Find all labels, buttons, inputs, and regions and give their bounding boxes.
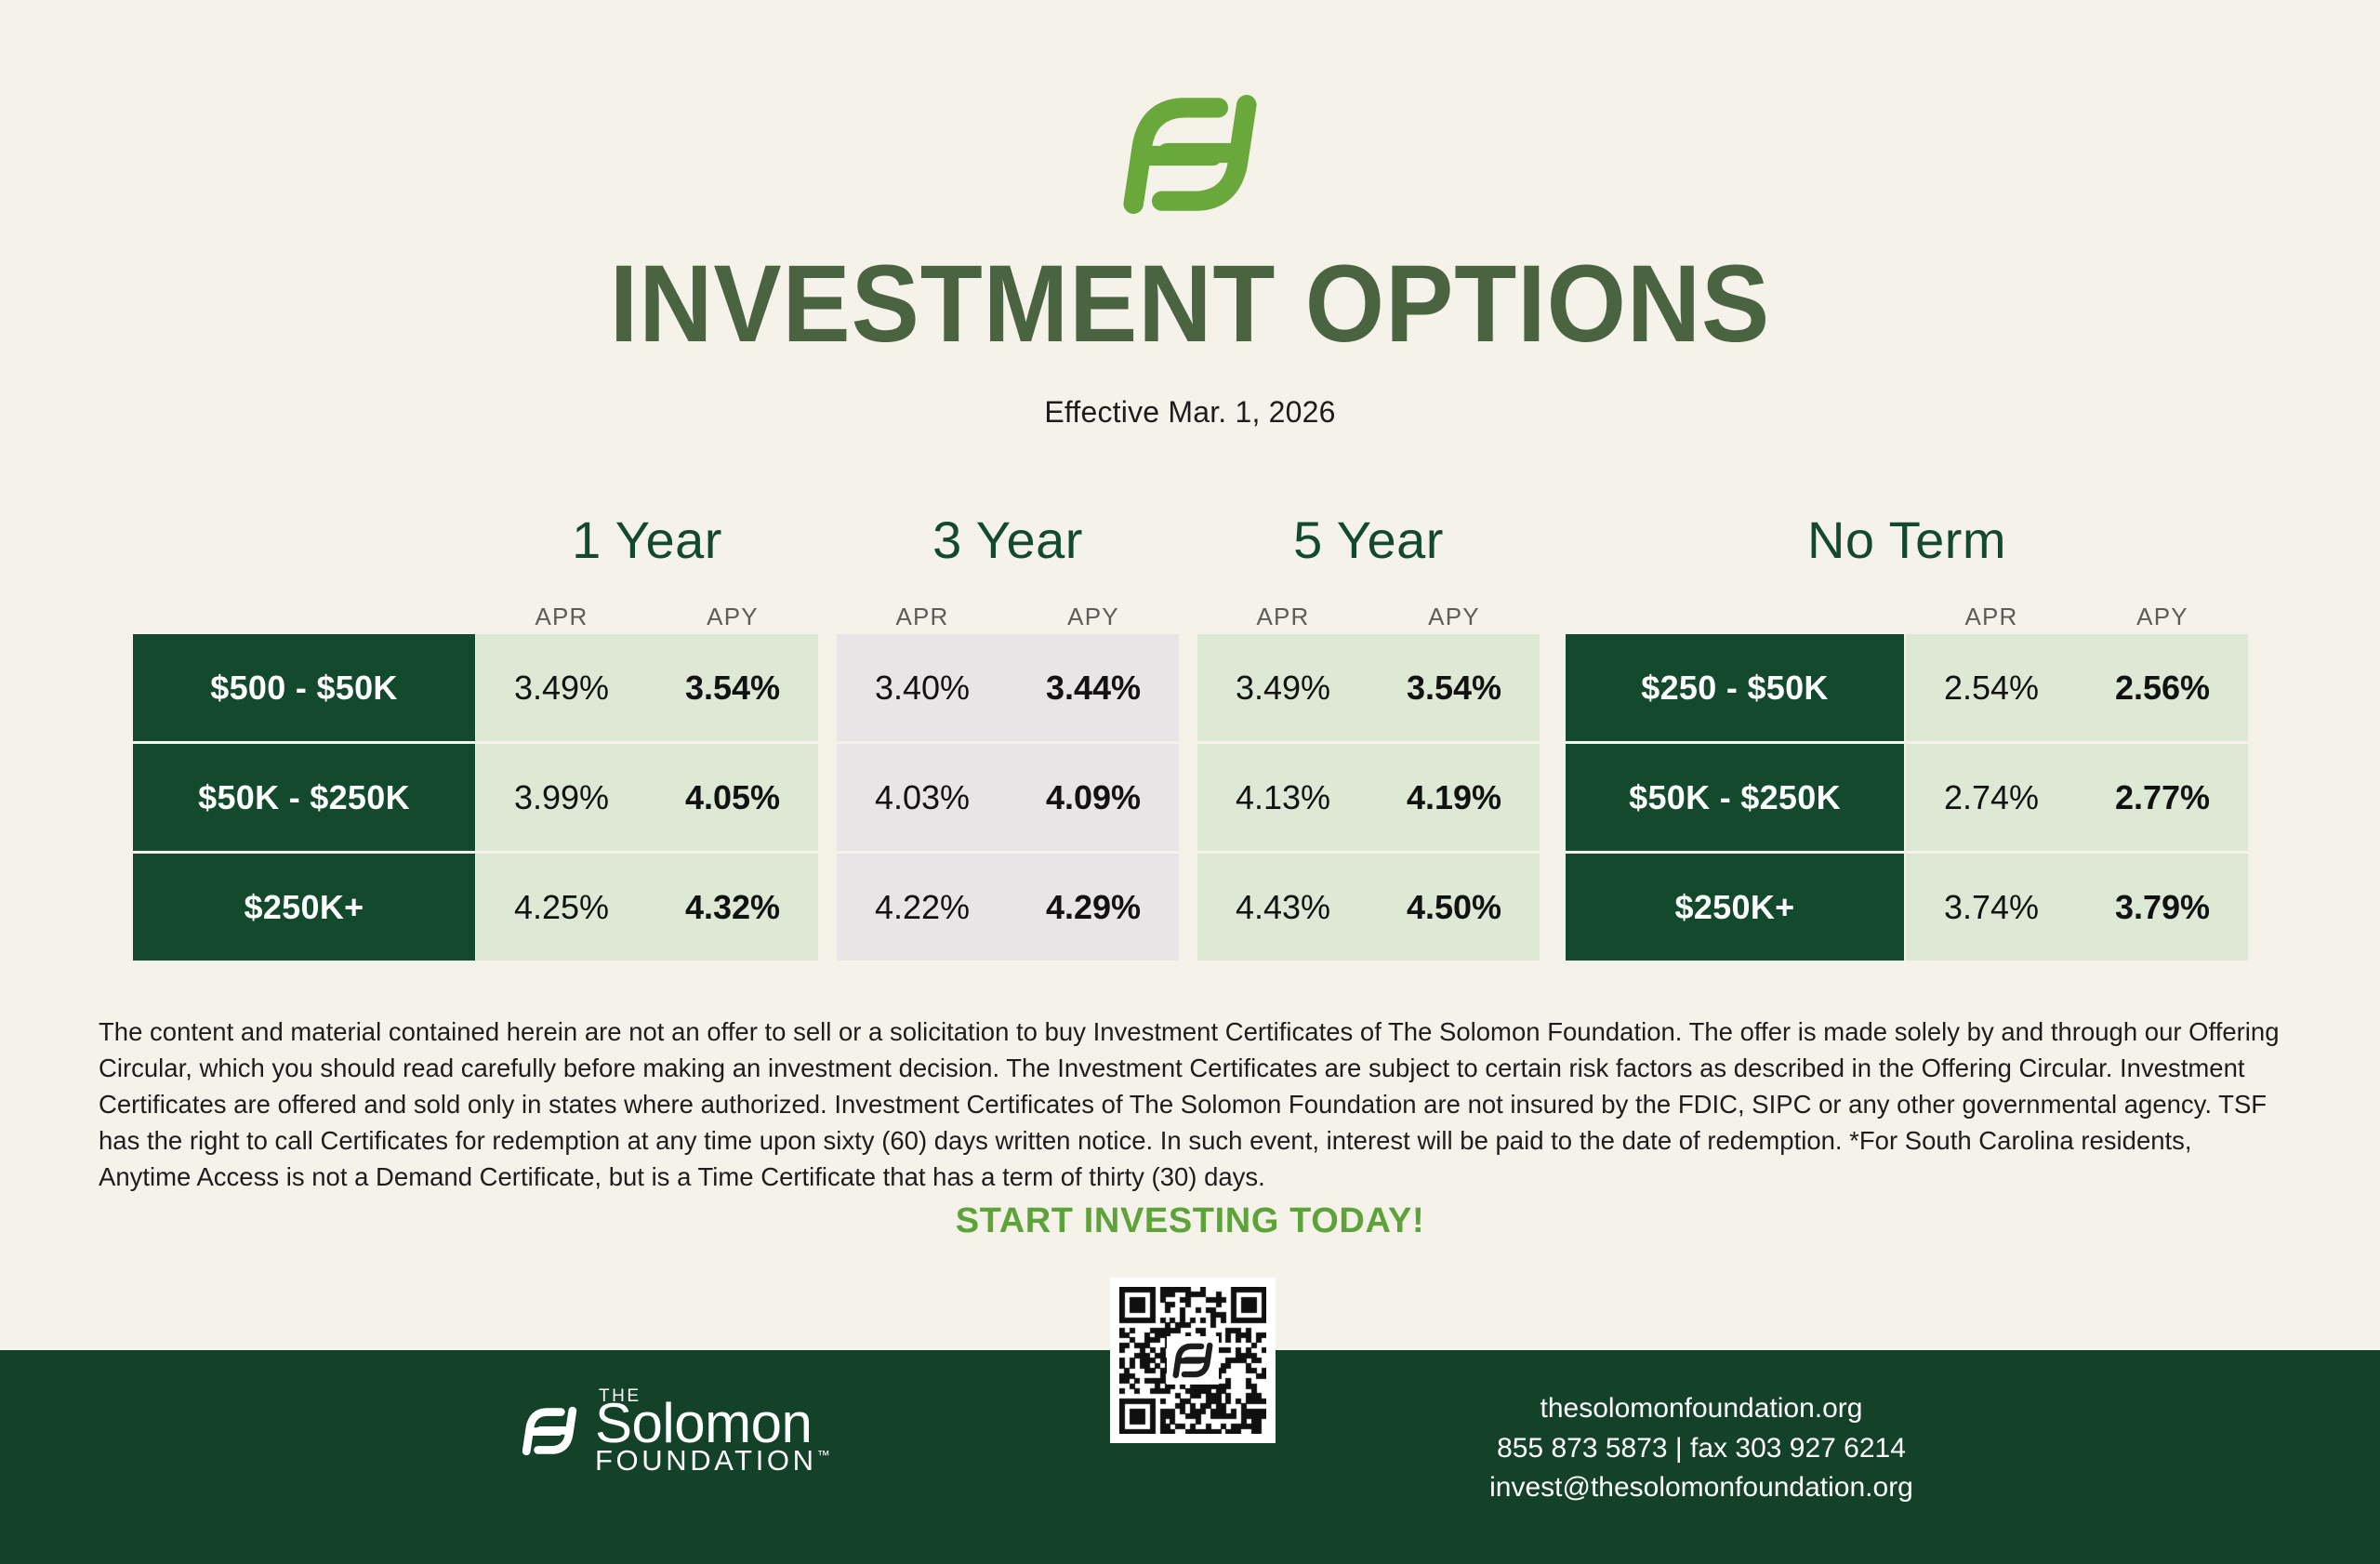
footer-logo-tm: ™ (817, 1448, 830, 1463)
colhead-apr-5-year: APR (1197, 603, 1368, 631)
cell-apy: 4.50% (1368, 854, 1540, 961)
cell-apy: 2.77% (2077, 744, 2248, 851)
cell-apr: 3.49% (476, 634, 647, 741)
group-title-5-year: 5 Year (1197, 510, 1540, 570)
cell-apy: 4.09% (1008, 744, 1179, 851)
cell-apr: 4.43% (1197, 854, 1368, 961)
cell-apr: 2.74% (1906, 744, 2077, 851)
footer-phone[interactable]: 855 873 5873 | fax 303 927 6214 (1450, 1429, 1952, 1469)
cell-apy: 4.05% (647, 744, 818, 851)
cell-apr: 4.13% (1197, 744, 1368, 851)
row-label: $500 - $50K (133, 634, 475, 741)
row-label: $250K+ (133, 854, 475, 961)
footer-website[interactable]: thesolomonfoundation.org (1450, 1389, 1952, 1429)
cell-apy: 3.54% (647, 634, 818, 741)
footer-logo-solomon: Solomon (595, 1396, 830, 1451)
colhead-apy-1-year: APY (647, 603, 818, 631)
footer-contact: thesolomonfoundation.org 855 873 5873 | … (1450, 1389, 1952, 1508)
row-label: $50K - $250K (1566, 744, 1904, 851)
cell-apy: 3.54% (1368, 634, 1540, 741)
colhead-apr-1-year: APR (476, 603, 647, 631)
cell-apr: 4.25% (476, 854, 647, 961)
qr-center-fs-monogram-icon (1167, 1336, 1219, 1385)
poster-page: INVESTMENT OPTIONS Effective Mar. 1, 202… (0, 0, 2380, 1564)
group-title-no-term: No Term (1566, 510, 2248, 570)
cell-apr: 3.49% (1197, 634, 1368, 741)
colhead-apr-3-year: APR (837, 603, 1008, 631)
footer-logo: THE Solomon FOUNDATION™ (521, 1387, 830, 1475)
cell-apy: 2.56% (2077, 634, 2248, 741)
footer-email[interactable]: invest@thesolomonfoundation.org (1450, 1468, 1952, 1508)
group-title-3-year: 3 Year (837, 510, 1179, 570)
colhead-apy-3-year: APY (1008, 603, 1179, 631)
colhead-apr-no-term: APR (1906, 603, 2077, 631)
cell-apy: 3.79% (2077, 854, 2248, 961)
colhead-apy-no-term: APY (2077, 603, 2248, 631)
row-label: $250 - $50K (1566, 634, 1904, 741)
cell-apy: 4.29% (1008, 854, 1179, 961)
row-label: $250K+ (1566, 854, 1904, 961)
cell-apr: 3.40% (837, 634, 1008, 741)
cell-apy: 4.32% (647, 854, 818, 961)
cell-apy: 4.19% (1368, 744, 1540, 851)
qr-code-icon[interactable] (1110, 1278, 1276, 1443)
colhead-apy-5-year: APY (1368, 603, 1540, 631)
cell-apr: 4.22% (837, 854, 1008, 961)
disclaimer-text: The content and material contained herei… (99, 1014, 2283, 1195)
footer-logo-foundation: FOUNDATION (595, 1444, 817, 1477)
group-title-1-year: 1 Year (476, 510, 818, 570)
row-label: $50K - $250K (133, 744, 475, 851)
fs-monogram-icon (521, 1402, 578, 1460)
cell-apr: 3.99% (476, 744, 647, 851)
cell-apr: 4.03% (837, 744, 1008, 851)
cell-apr: 2.54% (1906, 634, 2077, 741)
start-investing-cta: START INVESTING TODAY! (0, 1201, 2380, 1241)
cell-apr: 3.74% (1906, 854, 2077, 961)
cell-apy: 3.44% (1008, 634, 1179, 741)
